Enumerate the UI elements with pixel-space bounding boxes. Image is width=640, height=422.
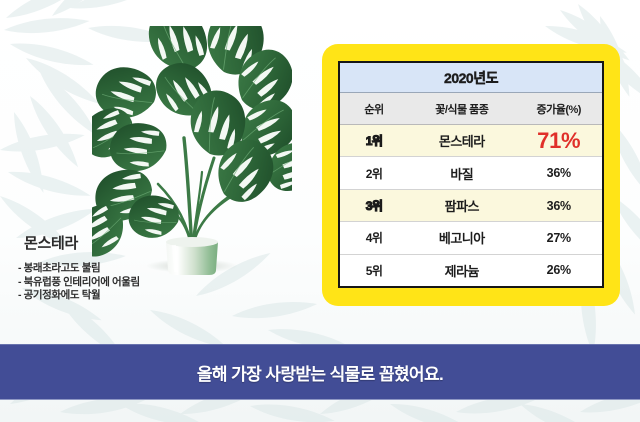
plant-info-block: 몬스테라 - 봉래초라고도 불림 - 북유럽풍 인테리어에 어울림 - 공기정화… bbox=[18, 232, 208, 303]
table-row: 5위 제라늄 26% bbox=[340, 255, 602, 286]
table-row: 2위 바질 36% bbox=[340, 157, 602, 189]
screenshot-stage: 몬스테라 - 봉래초라고도 불림 - 북유럽풍 인테리어에 어울림 - 공기정화… bbox=[0, 0, 640, 422]
table-row: 3위 팜파스 36% bbox=[340, 190, 602, 222]
table-row: 1위 몬스테라 71% bbox=[340, 125, 602, 157]
ranking-table: 2020년도 순위 꽃/식물 품종 증가율(%) 1위 몬스테라 71% 2위 … bbox=[338, 61, 604, 288]
cell-rate: 26% bbox=[516, 263, 602, 277]
list-item: - 봉래초라고도 불림 bbox=[18, 262, 208, 276]
cell-rate: 36% bbox=[516, 166, 602, 180]
cell-name: 베고니아 bbox=[408, 228, 515, 247]
cell-rate: 36% bbox=[516, 199, 602, 213]
ranking-table-card: 2020년도 순위 꽃/식물 품종 증가율(%) 1위 몬스테라 71% 2위 … bbox=[322, 44, 620, 306]
cell-name: 몬스테라 bbox=[408, 131, 515, 150]
cell-rate: 27% bbox=[516, 231, 602, 245]
caption-text: 올해 가장 사랑받는 식물로 꼽혔어요. bbox=[197, 360, 443, 385]
list-item: - 북유럽풍 인테리어에 어울림 bbox=[18, 276, 208, 290]
cell-rank: 1위 bbox=[340, 132, 408, 149]
column-header-name: 꽃/식물 품종 bbox=[408, 101, 515, 117]
list-item: - 공기정화에도 탁월 bbox=[18, 289, 208, 303]
table-row: 4위 베고니아 27% bbox=[340, 222, 602, 254]
table-header-row: 순위 꽃/식물 품종 증가율(%) bbox=[340, 93, 602, 125]
column-header-rank: 순위 bbox=[340, 101, 408, 117]
cell-name: 바질 bbox=[408, 164, 515, 183]
cell-name: 팜파스 bbox=[408, 196, 515, 215]
column-header-rate: 증가율(%) bbox=[516, 101, 602, 117]
plant-feature-list: - 봉래초라고도 불림 - 북유럽풍 인테리어에 어울림 - 공기정화에도 탁월 bbox=[18, 262, 208, 303]
table-year-title: 2020년도 bbox=[444, 68, 498, 88]
cell-rate: 71% bbox=[516, 128, 602, 154]
cell-name: 제라늄 bbox=[408, 261, 515, 280]
cell-rank: 4위 bbox=[340, 229, 408, 246]
table-title-row: 2020년도 bbox=[340, 63, 602, 93]
cell-rank: 3위 bbox=[340, 197, 408, 214]
plant-name-title: 몬스테라 bbox=[24, 232, 208, 253]
cell-rank: 5위 bbox=[340, 262, 408, 279]
caption-bar: 올해 가장 사랑받는 식물로 꼽혔어요. bbox=[0, 344, 640, 400]
cell-rank: 2위 bbox=[340, 165, 408, 182]
